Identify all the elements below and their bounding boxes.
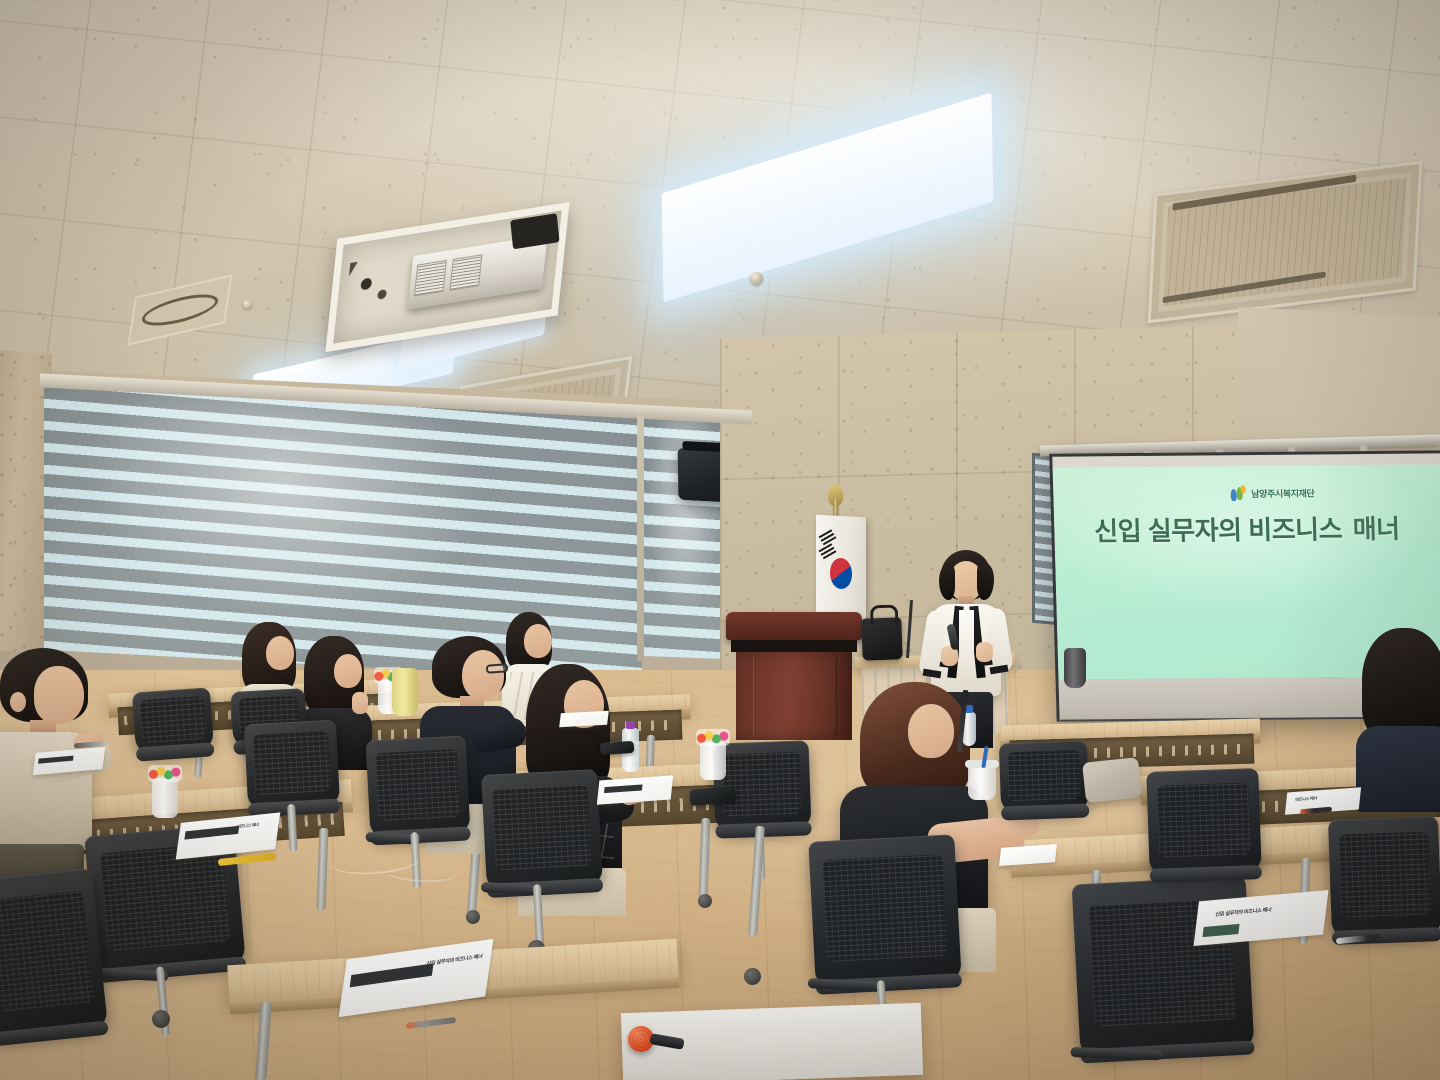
iced-drink-cup-icon[interactable] (968, 766, 996, 800)
slide-corner-dots: · · · (1401, 469, 1430, 479)
ac-grille (1163, 178, 1406, 307)
handout-label: 신입 실무자의 비즈니스 매너 (426, 953, 483, 968)
lectern-top (726, 612, 862, 640)
presenter-right-hand (976, 642, 993, 662)
handout-label: 신입 실무자의 비즈니스 매너 (1215, 906, 1272, 918)
sprinkler-head-icon (243, 300, 252, 309)
smartphone-icon[interactable] (600, 741, 635, 755)
sleeve-cuff-trim (923, 669, 942, 679)
presenter-inner-top (959, 610, 974, 666)
projector-cables (345, 254, 412, 322)
chair[interactable] (1328, 816, 1440, 938)
chair[interactable] (808, 834, 961, 987)
lectern-accent-band (731, 640, 856, 652)
attendee-hand (352, 692, 368, 714)
attendee-head (908, 704, 954, 758)
projector-vent (449, 254, 482, 290)
seminar-room-photo: · · · 남양주시복지재단 신입 실무자의 비즈니스 매너 위즈너교육컨설팅 … (0, 0, 1440, 1080)
slide-title: 신입 실무자의 비즈니스 매너 (1054, 508, 1440, 548)
attendee-head (266, 636, 294, 670)
projector-vent (414, 260, 447, 296)
decorated-drink-cup[interactable] (700, 742, 726, 780)
attendee-hair (1362, 628, 1440, 740)
chair-caster (744, 968, 761, 985)
table-caster (698, 894, 712, 908)
attendee-8 (1356, 628, 1440, 808)
sleeve-cuff-trim (990, 665, 1009, 675)
decorated-drink-cup[interactable] (152, 778, 178, 818)
attendee-head (334, 654, 362, 688)
attendee-head (34, 666, 84, 724)
chair[interactable] (132, 687, 214, 754)
handbag-icon (861, 617, 902, 660)
attendee-top (1356, 726, 1440, 812)
chair[interactable] (999, 740, 1089, 813)
chair[interactable] (366, 735, 471, 838)
insulated-tumbler-icon[interactable] (392, 668, 418, 716)
eyeglasses-icon (486, 663, 509, 674)
handout-label: 비즈니스 매너 (237, 822, 260, 830)
drink-topper-icon (148, 765, 182, 782)
chair[interactable] (481, 769, 603, 891)
organization-logo: 남양주시복지재단 (1229, 484, 1315, 502)
chair-caster (152, 1010, 170, 1028)
flag-trigram (818, 543, 836, 559)
blind-divider (637, 415, 644, 661)
attendee-head (462, 650, 504, 700)
chair[interactable] (1146, 768, 1262, 876)
table-caster (466, 910, 480, 924)
chair[interactable] (244, 720, 340, 811)
taeguk-symbol (830, 558, 852, 590)
sprinkler-head-icon (750, 272, 763, 285)
handout-label: 비즈니스 매너 (1295, 796, 1317, 804)
chair[interactable] (0, 868, 108, 1039)
floor-bag-icon (1082, 757, 1142, 803)
slide-title-highlight: 매너 (1348, 509, 1404, 546)
drink-topper-icon (696, 729, 730, 746)
note-paper[interactable] (559, 711, 609, 728)
attendee-ear (10, 692, 26, 712)
logo-people-icon (1229, 485, 1247, 502)
organization-logo-text: 남양주시복지재단 (1251, 486, 1314, 500)
slide-title-main: 신입 실무자의 비즈니스 (1094, 514, 1349, 546)
insulated-tumbler-icon[interactable] (1064, 648, 1086, 688)
flag-trigram (818, 529, 836, 545)
presenter-hair-side (977, 564, 994, 600)
presenter-hair-side (939, 566, 955, 600)
